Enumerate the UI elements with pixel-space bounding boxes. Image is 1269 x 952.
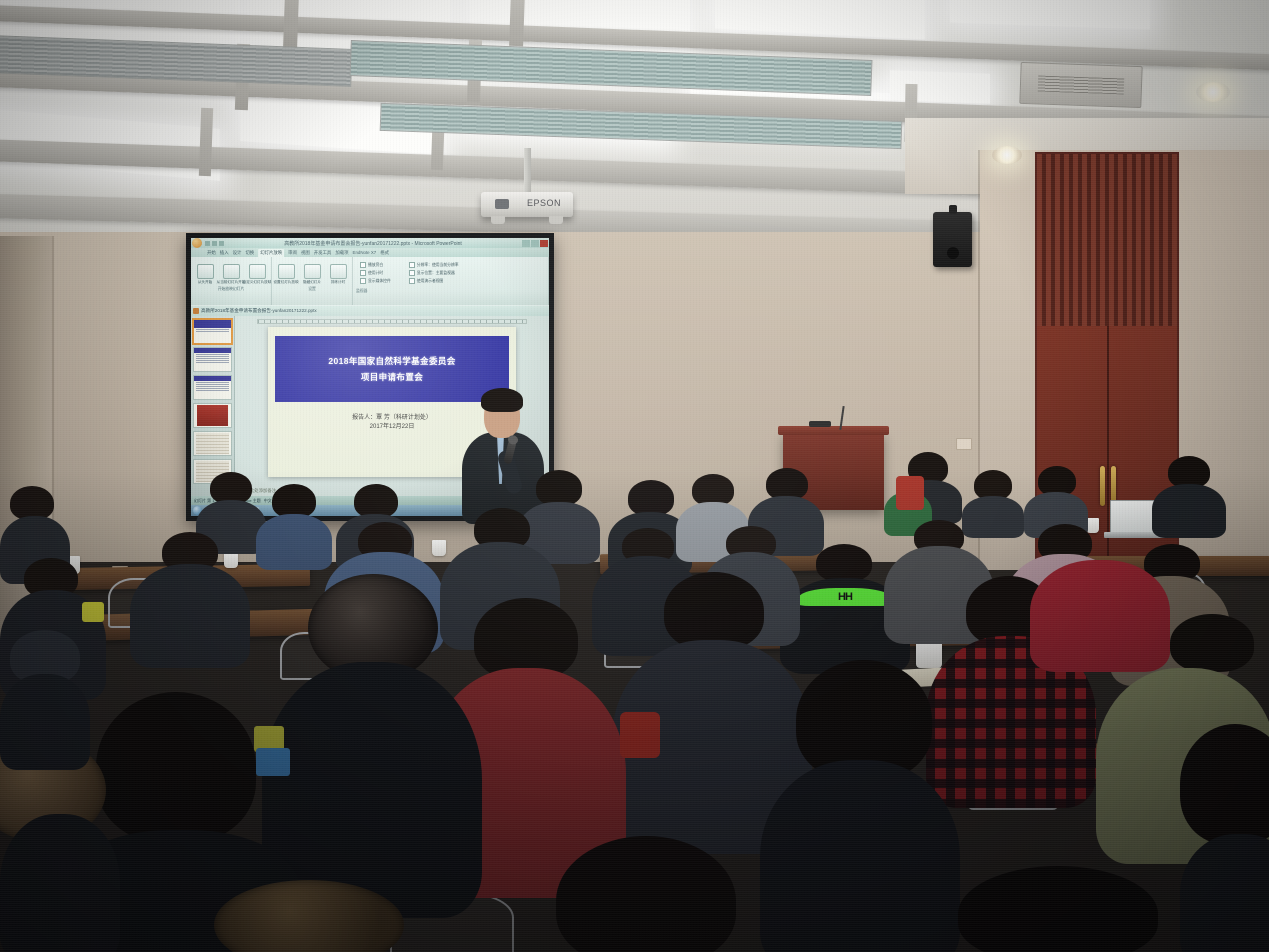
recessed-downlight xyxy=(1196,82,1230,102)
lectern-microphone-base xyxy=(809,421,831,427)
coat xyxy=(0,814,120,952)
slide-thumbnail[interactable] xyxy=(193,431,232,456)
ceiling-ac-unit xyxy=(1019,62,1142,108)
window-title: 高教所2018年基金申请布置会报告-yunfan20171222.pptx - … xyxy=(224,240,522,247)
yellow-bag xyxy=(82,602,104,622)
audience-member xyxy=(1152,456,1226,536)
powerpoint-title-bar: 高教所2018年基金申请布置会报告-yunfan20171222.pptx - … xyxy=(191,238,549,248)
hair xyxy=(272,484,316,518)
audience-member xyxy=(1024,466,1088,534)
slide-title-line1: 2018年国家自然科学基金委员会 xyxy=(328,355,455,367)
minimize-icon xyxy=(522,240,530,247)
coat xyxy=(0,674,90,770)
powerpoint-file-icon xyxy=(193,308,199,314)
group-name-monitors: 监视器 xyxy=(356,289,367,294)
ceiling-beam-cross xyxy=(283,0,299,50)
ribbon-body[interactable]: 从头开始 从当前幻灯片开始 自定义幻灯片放映 开始放映幻灯片 设置幻灯片放映 隐… xyxy=(191,257,549,305)
slide-thumbnail-panel[interactable] xyxy=(191,316,235,496)
red-puffer xyxy=(1030,560,1170,672)
tab-kaishi[interactable]: 开始 xyxy=(207,250,216,256)
hh-logo-stripe: HH xyxy=(798,588,892,606)
group-name-setup: 设置 xyxy=(308,287,316,292)
play-icon xyxy=(197,264,214,279)
thumb-image xyxy=(197,405,228,426)
wall-speaker-icon xyxy=(933,212,972,267)
red-chair-back xyxy=(620,712,660,758)
red-chair-back xyxy=(896,476,924,510)
audience-member xyxy=(536,836,766,952)
tab-qiehuan[interactable]: 切换 xyxy=(245,250,254,256)
hide-slide-icon xyxy=(304,264,321,279)
group-name-start-show: 开始放映幻灯片 xyxy=(218,287,245,292)
start-from-beginning-button[interactable]: 从头开始 xyxy=(194,264,216,285)
ribbon-tab-strip[interactable]: 开始 插入 设计 切换 幻灯片放映 审阅 视图 开发工具 加载项 EndNote… xyxy=(191,248,549,257)
setup-slideshow-button[interactable]: 设置幻灯片放映 xyxy=(275,264,297,285)
dropdown-resolution[interactable] xyxy=(409,262,415,268)
lecture-hall-photo: EPSON 高教所2018年基金申请布置会报告-yunfan20171222.p… xyxy=(0,0,1269,952)
hair xyxy=(816,544,872,582)
tab-charu[interactable]: 插入 xyxy=(220,250,229,256)
coat xyxy=(1180,834,1269,952)
projector-foot xyxy=(549,216,563,224)
hair xyxy=(96,692,256,842)
door-handle[interactable] xyxy=(1100,466,1105,506)
ribbon-group-start-show: 从头开始 从当前幻灯片开始 自定义幻灯片放映 开始放映幻灯片 xyxy=(191,257,272,305)
slide-thumbnail[interactable] xyxy=(193,403,232,428)
ribbon-group-monitors: 播放旁白 使用计时 显示媒体控件 分辨率：使用当前分辨率 显示位置：主要监视器 … xyxy=(353,257,549,305)
hair xyxy=(664,572,764,650)
close-icon xyxy=(540,240,548,247)
maximize-icon xyxy=(531,240,539,247)
door-grille-panel xyxy=(1037,154,1177,326)
recessed-downlight xyxy=(992,146,1022,164)
lectern-top xyxy=(778,426,889,435)
audience-member xyxy=(0,630,90,760)
document-tab[interactable]: 高教所2018年基金申请布置会报告-yunfan20171222.pptx xyxy=(191,305,549,316)
projector-lens-icon xyxy=(495,199,509,209)
tab-kaifagongju[interactable]: 开发工具 xyxy=(314,250,332,256)
horizontal-ruler xyxy=(257,319,527,324)
audience-member xyxy=(962,470,1024,534)
wall-outlet xyxy=(956,438,972,450)
projector: EPSON xyxy=(481,192,573,217)
thumb-title-band xyxy=(194,320,231,328)
blue-coat xyxy=(256,514,332,570)
checkbox-media-controls[interactable] xyxy=(360,278,366,284)
audience-member xyxy=(214,880,414,952)
audience-member xyxy=(0,744,120,952)
timer-icon xyxy=(330,264,347,279)
projector-mount xyxy=(524,148,531,194)
slide-thumbnail[interactable] xyxy=(193,347,232,372)
hair xyxy=(1170,614,1254,672)
audience-member xyxy=(1180,724,1269,952)
ribbon-group-setup: 设置幻灯片放映 隐藏幻灯片 排练计时 设置 xyxy=(272,257,353,305)
hair xyxy=(354,484,398,518)
start-from-current-button[interactable]: 从当前幻灯片开始 xyxy=(220,264,242,285)
rehearse-timings-button[interactable]: 排练计时 xyxy=(327,264,349,285)
tab-slideshow[interactable]: 幻灯片放映 xyxy=(258,249,284,257)
hair xyxy=(958,866,1158,952)
quick-access-toolbar[interactable] xyxy=(205,241,224,246)
projector-foot xyxy=(491,216,505,224)
projector-brand-label: EPSON xyxy=(527,198,561,208)
audience-member xyxy=(256,484,332,568)
custom-show-icon xyxy=(249,264,266,279)
checkbox-timings[interactable] xyxy=(360,270,366,276)
play-current-icon xyxy=(223,264,240,279)
hair xyxy=(1180,724,1269,844)
hair xyxy=(556,836,736,952)
thumb-table xyxy=(196,433,229,454)
audience-member xyxy=(958,866,1158,952)
audience-member xyxy=(130,546,250,662)
tab-sheji[interactable]: 设计 xyxy=(233,250,242,256)
custom-show-button[interactable]: 自定义幻灯片放映 xyxy=(246,264,268,285)
presenter-hair xyxy=(481,388,523,412)
slide-thumbnail[interactable] xyxy=(193,375,232,400)
blue-bag xyxy=(256,748,290,776)
tab-shenyue[interactable]: 审阅 xyxy=(288,250,297,256)
coat xyxy=(1152,484,1226,538)
coat xyxy=(760,760,960,952)
tab-jiazaixiang[interactable]: 加载项 xyxy=(335,250,348,256)
monitor-options[interactable]: 分辨率：使用当前分辨率 显示位置：主要监视器 使用演示者视图 xyxy=(405,259,463,287)
hair xyxy=(10,486,54,520)
slide-title-line2: 项目申请布置会 xyxy=(361,371,423,383)
office-orb-icon[interactable] xyxy=(192,238,202,248)
hide-slide-button[interactable]: 隐藏幻灯片 xyxy=(301,264,323,285)
ceiling-beam-cross xyxy=(199,108,213,176)
audience-member xyxy=(1030,560,1170,680)
document-tab-label: 高教所2018年基金申请布置会报告-yunfan20171222.pptx xyxy=(201,308,317,314)
ceiling-light-panel xyxy=(950,0,1150,29)
thumb-lines xyxy=(194,381,231,399)
audience-member xyxy=(760,660,960,952)
window-controls[interactable] xyxy=(522,240,548,247)
setup-icon xyxy=(278,264,295,279)
tab-geshi[interactable]: 格式 xyxy=(380,250,389,256)
ceiling-beam-cross xyxy=(509,0,525,46)
hh-logo-text: HH xyxy=(838,591,852,603)
slide-thumbnail[interactable] xyxy=(193,319,232,344)
thumb-lines xyxy=(194,353,231,371)
thumb-lines xyxy=(194,328,231,343)
dropdown-display[interactable] xyxy=(409,270,415,276)
hair xyxy=(536,470,582,506)
coat xyxy=(130,564,250,668)
checkbox-presenter-view[interactable] xyxy=(409,278,415,284)
hair xyxy=(628,480,674,516)
tab-endnote[interactable]: EndNote X7 xyxy=(353,250,377,255)
tab-shitu[interactable]: 视图 xyxy=(301,250,310,256)
playback-options[interactable]: 播放旁白 使用计时 显示媒体控件 xyxy=(356,259,395,287)
fur-hood xyxy=(214,880,404,952)
checkbox-narration[interactable] xyxy=(360,262,366,268)
